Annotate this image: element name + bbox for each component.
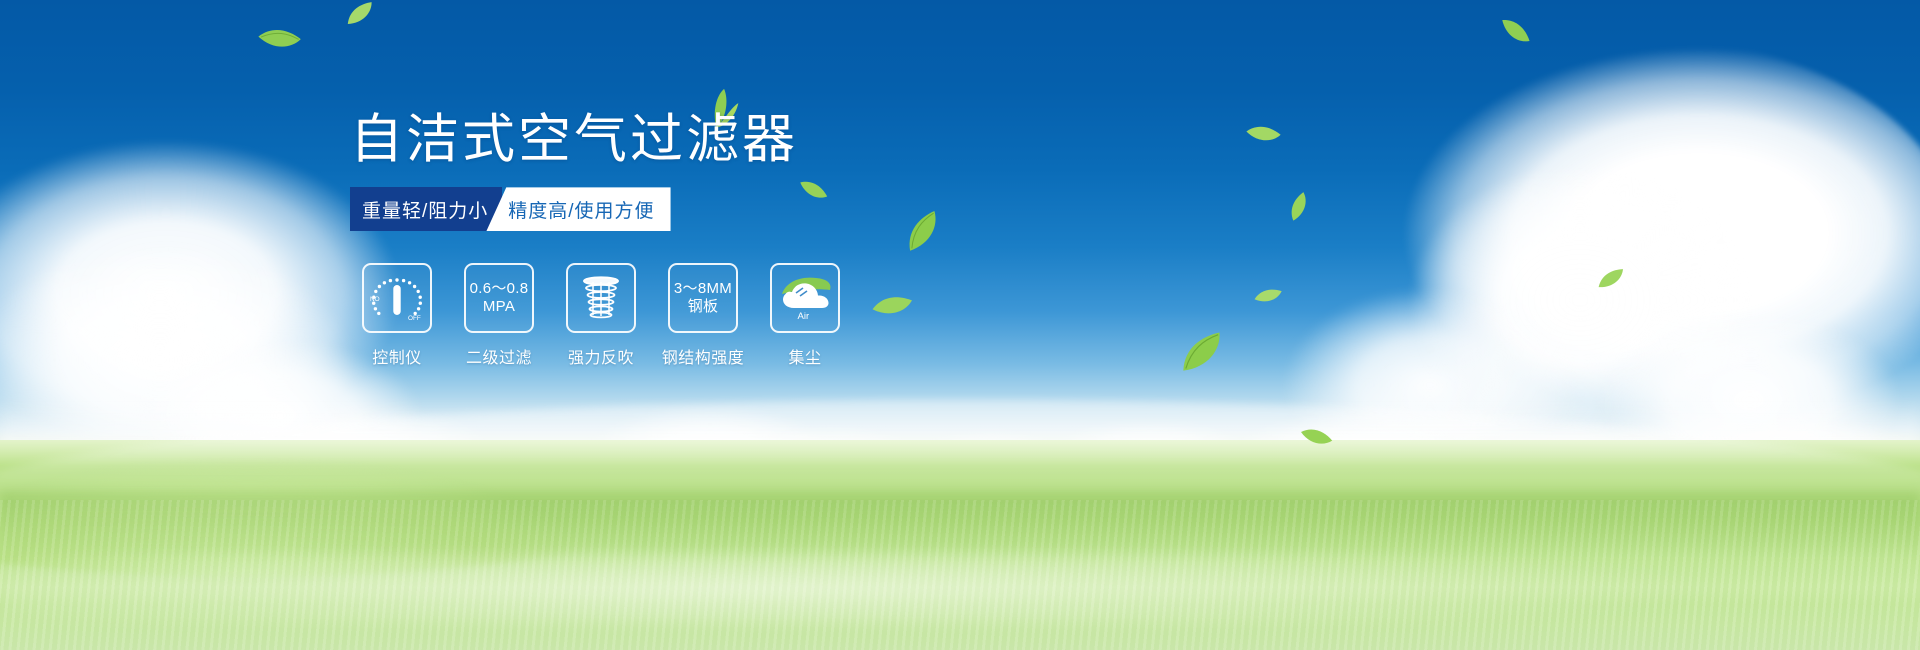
floating-leaf-icon (1172, 327, 1233, 378)
feature-icon-box: NO OFF (362, 263, 432, 333)
banner-content: 自洁式空气过滤器 重量轻/阻力小 精度高/使用方便 (350, 110, 1050, 368)
air-text: Air (798, 311, 810, 322)
floating-leaf-icon (1253, 284, 1284, 308)
feature-label: 集尘 (788, 344, 821, 368)
pressure-range-text: 0.6～0.8 (470, 280, 529, 298)
feature-item-pressure: 0.6～0.8 MPA 二级过滤 (460, 263, 538, 368)
feature-icon-box: 3～8MM 钢板 (668, 263, 738, 333)
feature-icon-box: 0.6～0.8 MPA (464, 263, 534, 333)
feature-icon-box: Air (770, 263, 840, 333)
floating-leaf-icon (1594, 265, 1628, 293)
feature-label: 控制仪 (372, 344, 422, 368)
badge-group: 重量轻/阻力小 精度高/使用方便 (350, 187, 672, 231)
floating-leaf-icon (1281, 189, 1318, 226)
hero-banner: 自洁式空气过滤器 重量轻/阻力小 精度高/使用方便 (0, 0, 1920, 650)
floating-leaf-icon (1496, 10, 1535, 52)
filter-coil-icon (575, 272, 627, 324)
dial-no-label: NO (370, 296, 380, 303)
feature-item-dust-collection: Air 集尘 (766, 263, 844, 368)
feature-icon-box (566, 263, 636, 333)
badge-precision-convenience: 精度高/使用方便 (486, 187, 670, 231)
badge-weight-resistance: 重量轻/阻力小 (350, 187, 502, 231)
steel-plate-text: 钢板 (688, 298, 719, 316)
floating-leaf-icon (252, 14, 305, 64)
badge-secondary-label: 精度高/使用方便 (508, 196, 654, 223)
feature-label: 强力反吹 (568, 344, 634, 368)
badge-primary-label: 重量轻/阻力小 (362, 196, 488, 223)
page-title: 自洁式空气过滤器 (350, 110, 1050, 169)
grass-field (0, 440, 1920, 650)
feature-list: NO OFF 控制仪 0.6～0.8 MPA 二级过滤 (358, 263, 1050, 368)
pressure-unit-text: MPA (483, 298, 515, 316)
floating-leaf-icon (1242, 115, 1283, 153)
feature-item-steel: 3～8MM 钢板 钢结构强度 (664, 263, 742, 368)
feature-label: 二级过滤 (466, 344, 532, 368)
steel-thickness-text: 3～8MM (674, 280, 732, 298)
grass-foreground-light (0, 604, 1920, 650)
floating-leaf-icon (341, 0, 379, 30)
air-cloud-leaf-icon: Air (776, 274, 834, 322)
feature-item-controller: NO OFF 控制仪 (358, 263, 436, 368)
gauge-dial-icon: NO OFF (368, 271, 426, 325)
feature-item-blowback: 强力反吹 (562, 263, 640, 368)
feature-label: 钢结构强度 (662, 344, 745, 368)
dial-off-label: OFF (408, 315, 421, 322)
